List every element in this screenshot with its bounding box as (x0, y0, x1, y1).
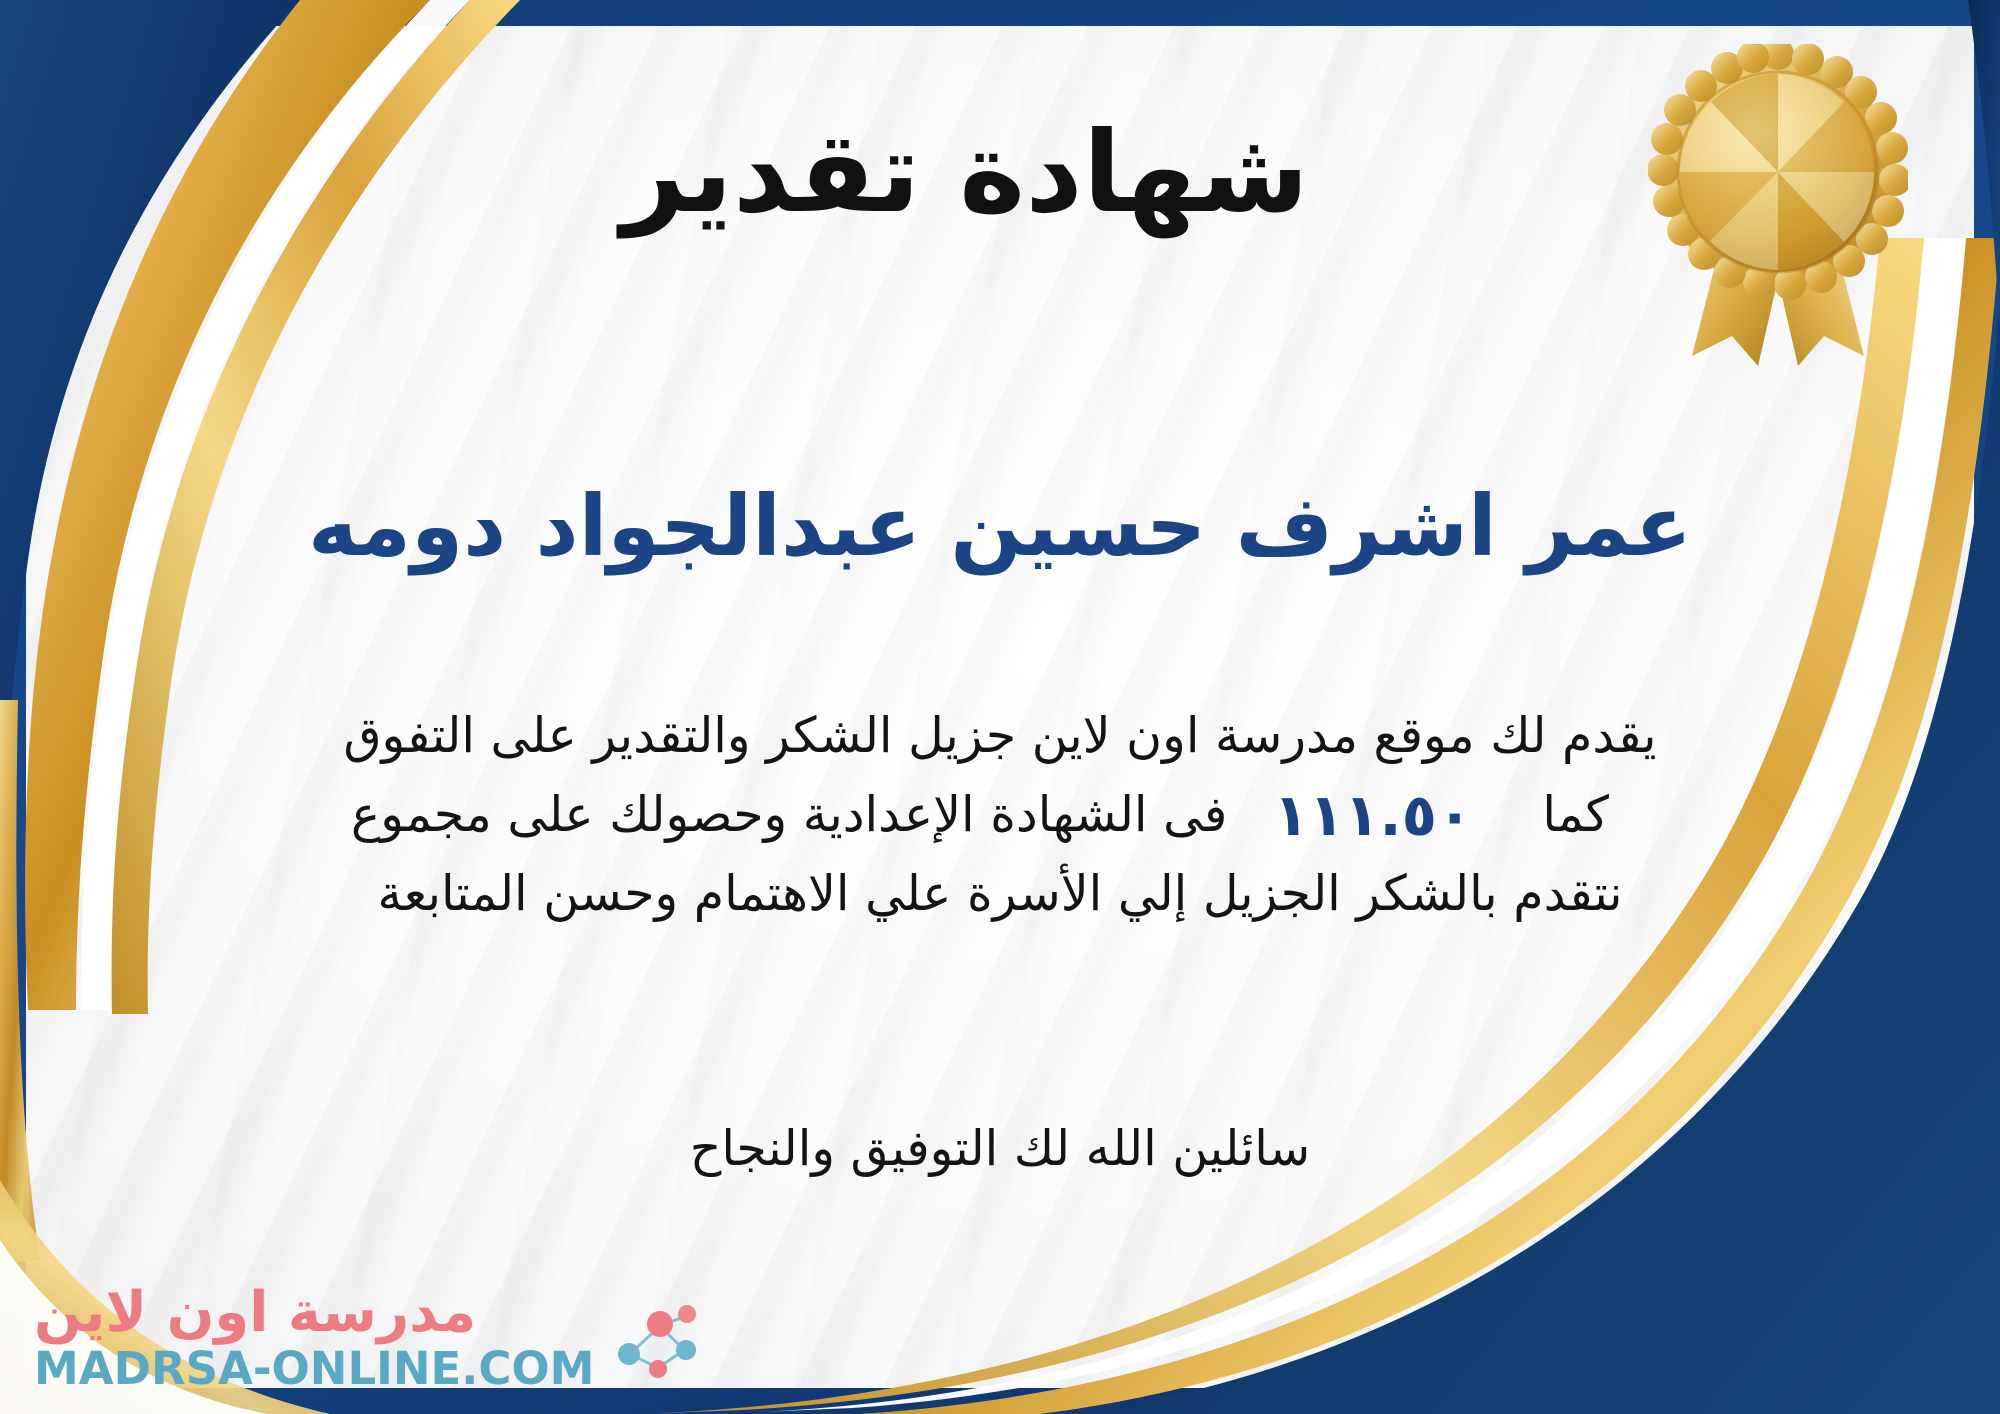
brand-arabic-name: مدرسة اون لاين (34, 1284, 476, 1343)
brand-text: مدرسة اون لاين MADRSA-ONLINE.COM (34, 1284, 594, 1392)
certificate-page: شهادة تقدير عمر اشرف حسين عبدالجواد دومه… (0, 0, 2000, 1414)
body-line-2: كما ١١١.٥٠ فى الشهادة الإعدادية وحصولك ع… (60, 773, 1940, 859)
brand-website: MADRSA-ONLINE.COM (34, 1345, 594, 1392)
body-line-3: نتقدم بالشكر الجزيل إلي الأسرة علي الاهت… (60, 858, 1940, 931)
network-nodes-logo-icon (608, 1290, 704, 1386)
closing-line: سائلين الله لك التوفيق والنجاح (0, 1120, 2000, 1177)
body-line-2-suffix: كما (1542, 779, 1667, 852)
award-medal-icon (1648, 44, 1908, 374)
certificate-body: يقدم لك موقع مدرسة اون لاين جزيل الشكر و… (60, 700, 1940, 931)
body-line-2-prefix: فى الشهادة الإعدادية وحصولك على مجموع (333, 779, 1227, 852)
recipient-name: عمر اشرف حسين عبدالجواد دومه (0, 478, 2000, 575)
total-score-value: ١١١.٥٠ (1227, 773, 1542, 859)
body-line-1: يقدم لك موقع مدرسة اون لاين جزيل الشكر و… (60, 700, 1940, 773)
brand-logo[interactable]: مدرسة اون لاين MADRSA-ONLINE.COM (34, 1284, 704, 1392)
